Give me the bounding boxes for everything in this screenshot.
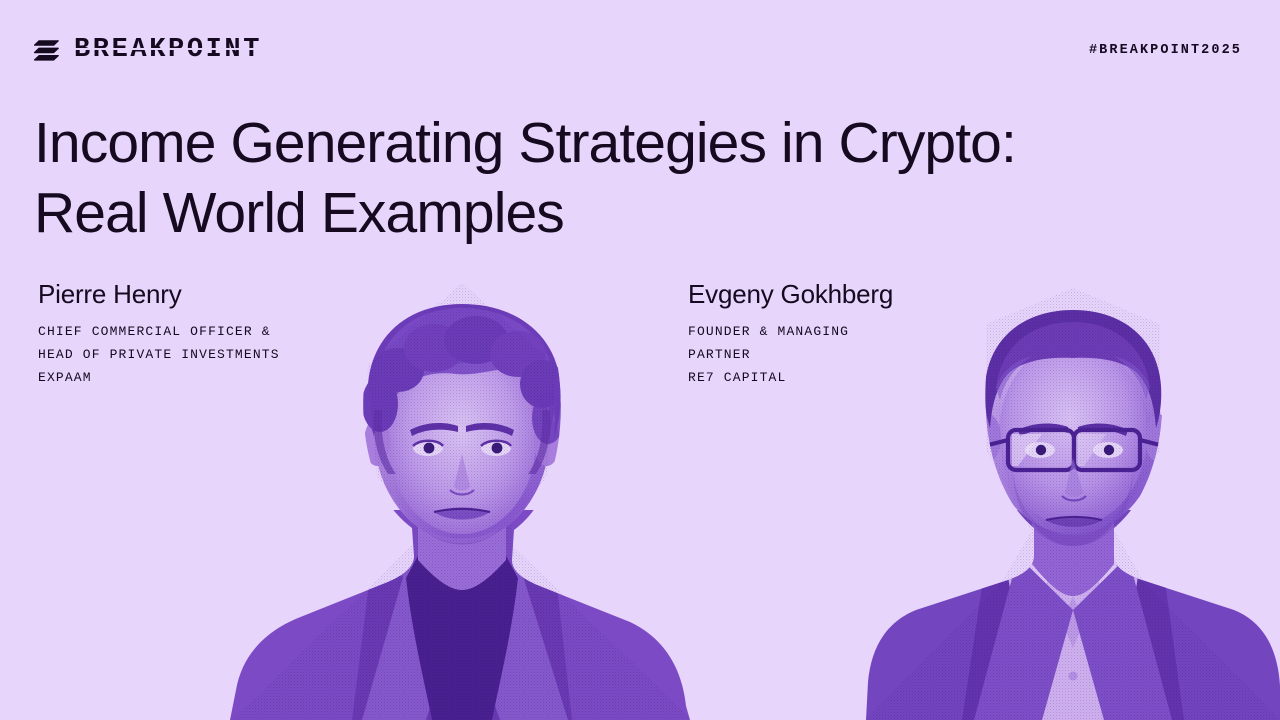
session-title-line-2: Real World Examples [34, 178, 1234, 248]
session-title: Income Generating Strategies in Crypto: … [34, 108, 1234, 248]
halftone-texture-1 [866, 270, 1280, 720]
speaker-portrait-0 [212, 260, 712, 720]
speaker-role-0-line-3: EXPAAM [38, 366, 368, 389]
speaker-role-1-line-3: RE7 CAPITAL [688, 366, 988, 389]
speaker-role-0-line-2: HEAD OF PRIVATE INVESTMENTS [38, 343, 368, 366]
speaker-role-1-line-2: PARTNER [688, 343, 988, 366]
slide-header: BREAKPOINT #BREAKPOINT2025 [0, 0, 1280, 100]
speaker-info-group: Pierre Henry CHIEF COMMERCIAL OFFICER & … [0, 278, 1280, 408]
speaker-portrait-1 [866, 270, 1280, 720]
speaker-name-0: Pierre Henry [38, 278, 368, 310]
speaker-role-0-line-1: CHIEF COMMERCIAL OFFICER & [38, 320, 368, 343]
halftone-texture-0 [212, 260, 712, 720]
speaker-block-0: Pierre Henry CHIEF COMMERCIAL OFFICER & … [38, 278, 368, 389]
breakpoint-brand-lockup: BREAKPOINT [34, 37, 262, 64]
speaker-role-0: CHIEF COMMERCIAL OFFICER & HEAD OF PRIVA… [38, 320, 368, 389]
solana-logo-icon [34, 39, 60, 61]
speaker-block-1: Evgeny Gokhberg FOUNDER & MANAGING PARTN… [688, 278, 988, 389]
speaker-role-1-line-1: FOUNDER & MANAGING [688, 320, 988, 343]
session-title-line-1: Income Generating Strategies in Crypto: [34, 108, 1234, 178]
event-hashtag: #BREAKPOINT2025 [1089, 43, 1242, 58]
speaker-name-1: Evgeny Gokhberg [688, 278, 988, 310]
speaker-role-1: FOUNDER & MANAGING PARTNER RE7 CAPITAL [688, 320, 988, 389]
breakpoint-wordmark: BREAKPOINT [74, 37, 262, 64]
speaker-slide: BREAKPOINT #BREAKPOINT2025 Income Genera… [0, 0, 1280, 720]
